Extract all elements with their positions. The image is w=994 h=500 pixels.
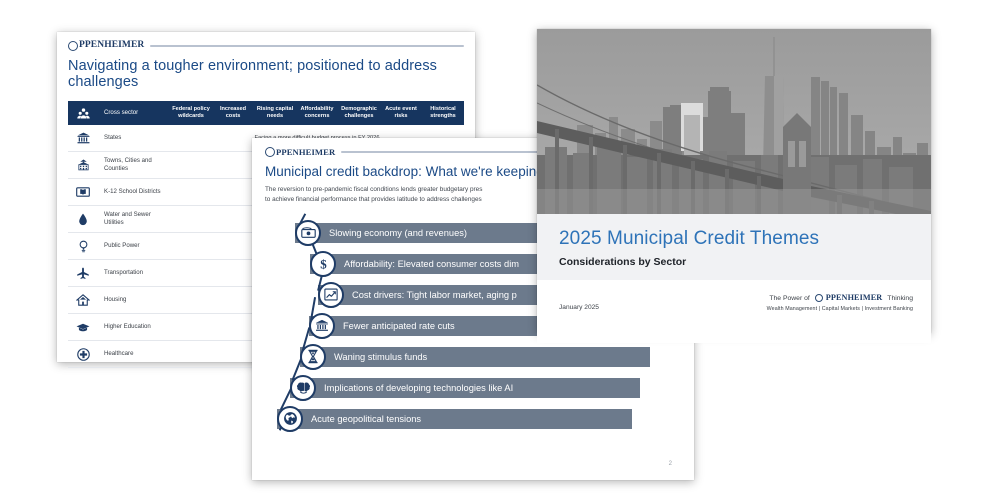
graduation-cap-icon [76, 322, 90, 333]
theme-label: Cost drivers: Tight labor market, aging … [352, 290, 517, 300]
brand-tagline: The Power of PPENHEIMER Thinking [767, 294, 913, 302]
header-col-7: Historical strengths [422, 101, 464, 125]
row-icon-cell [68, 179, 98, 206]
row-sector-label: Towns, Cities and Counties [98, 152, 170, 179]
tagline-prefix: The Power of [769, 295, 809, 302]
row-icon-cell [68, 314, 98, 341]
theme-row[interactable]: Waning stimulus funds [300, 347, 650, 367]
cover-footer: January 2025 The Power of PPENHEIMER Thi… [537, 280, 931, 343]
theme-node [290, 375, 316, 401]
header-icon-cell [68, 101, 98, 125]
theme-row[interactable]: Acute geopolitical tensions [277, 409, 632, 429]
row-icon-cell [68, 233, 98, 260]
cover-subtitle: Considerations by Sector [559, 256, 909, 268]
logo-circle-icon [68, 41, 78, 51]
header-col-1: Federal policy wildcards [170, 101, 212, 125]
header-col-5: Demographic challenges [338, 101, 380, 125]
theme-label: Slowing economy (and revenues) [329, 228, 467, 238]
house-icon [76, 294, 90, 306]
school-icon [76, 186, 90, 198]
row-sector-label: K-12 School Districts [98, 179, 170, 206]
theme-node [277, 406, 303, 432]
row-icon-cell [68, 206, 98, 233]
airplane-icon [76, 267, 90, 280]
theme-label: Acute geopolitical tensions [311, 414, 421, 424]
table-header: Cross sector Federal policy wildcards In… [68, 101, 464, 125]
logo-wordmark: PPENHEIMER [276, 148, 335, 157]
cover-title: 2025 Municipal Credit Themes [559, 228, 909, 250]
theme-bar: Waning stimulus funds [300, 347, 650, 367]
slide-stage: PPENHEIMER Navigating a tougher environm… [0, 0, 994, 500]
row-sector-label: States [98, 125, 170, 152]
cover-date: January 2025 [559, 304, 599, 311]
row-icon-cell [68, 260, 98, 287]
slide-cover[interactable]: 2025 Municipal Credit Themes Considerati… [537, 29, 931, 333]
header-col-2: Increased costs [212, 101, 254, 125]
bank-icon [77, 132, 90, 144]
line-chart-icon [324, 288, 338, 301]
theme-row[interactable]: Implications of developing technologies … [290, 378, 640, 398]
skyline-graphic [537, 29, 931, 214]
logo-rule [150, 45, 464, 47]
cover-title-band: 2025 Municipal Credit Themes Considerati… [537, 214, 931, 280]
row-sector-label: Higher Education [98, 314, 170, 341]
subtitle-line-1: The reversion to pre-pandemic fiscal con… [265, 186, 482, 193]
header-col-0: Cross sector [98, 101, 170, 125]
subtitle-line-2: to achieve financial performance that pr… [265, 196, 482, 203]
row-icon-cell [68, 341, 98, 368]
page-number: 2 [669, 461, 672, 467]
row-sector-label: Water and Sewer Utilities [98, 206, 170, 233]
logo-wordmark: PPENHEIMER [79, 41, 144, 51]
theme-bar: Acute geopolitical tensions [277, 409, 632, 429]
theme-label: Waning stimulus funds [334, 352, 427, 362]
header-col-6: Acute event risks [380, 101, 422, 125]
people-icon [77, 108, 90, 119]
water-drop-icon [78, 213, 88, 226]
hourglass-icon [307, 349, 319, 364]
theme-label: Fewer anticipated rate cuts [343, 321, 455, 331]
row-sector-label: Housing [98, 287, 170, 314]
lightbulb-icon [78, 240, 89, 253]
row-icon-cell [68, 125, 98, 152]
logo-circle-icon [815, 294, 823, 302]
slide-sector-title: Navigating a tougher environment; positi… [68, 58, 464, 90]
row-sector-label: Healthcare [98, 341, 170, 368]
logo-circle-icon [265, 147, 275, 157]
theme-node [318, 282, 344, 308]
theme-node [309, 313, 335, 339]
brand-divisions: Wealth Management | Capital Markets | In… [767, 306, 913, 312]
header-col-4: Affordability concerns [296, 101, 338, 125]
theme-node [295, 220, 321, 246]
healthcare-cross-icon [77, 348, 90, 361]
oppenheimer-logo: PPENHEIMER [68, 41, 464, 51]
row-icon-cell [68, 152, 98, 179]
hero-image-nyc-skyline [537, 29, 931, 214]
banknote-icon [301, 227, 316, 239]
header-col-3: Rising capital needs [254, 101, 296, 125]
town-hall-icon [77, 159, 90, 171]
bank-icon [315, 319, 329, 332]
theme-bar: Implications of developing technologies … [290, 378, 640, 398]
theme-label: Affordability: Elevated consumer costs d… [344, 259, 519, 269]
row-sector-label: Transportation [98, 260, 170, 287]
tagline-suffix: Thinking [887, 295, 913, 302]
row-sector-label: Public Power [98, 233, 170, 260]
svg-text:$: $ [320, 257, 327, 272]
logo-wordmark: PPENHEIMER [826, 294, 883, 302]
brain-icon [296, 381, 311, 394]
table-header-row: Cross sector Federal policy wildcards In… [68, 101, 464, 125]
dollar-sign-icon: $ [318, 256, 329, 271]
theme-node: $ [310, 251, 336, 277]
theme-label: Implications of developing technologies … [324, 383, 513, 393]
brand-lockup: The Power of PPENHEIMER Thinking Wealth … [767, 294, 913, 312]
theme-node [300, 344, 326, 370]
row-icon-cell [68, 287, 98, 314]
globe-icon [283, 411, 298, 426]
